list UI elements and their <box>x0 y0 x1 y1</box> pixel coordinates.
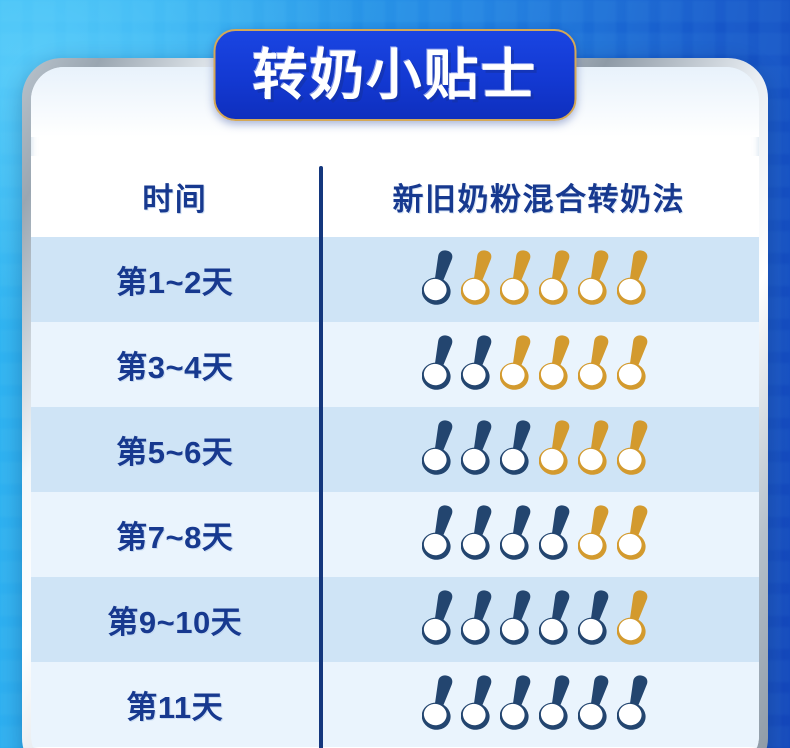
row-cell-time: 第5~6天 <box>31 427 319 472</box>
old-formula-scoop-icon <box>539 417 577 479</box>
new-formula-scoop-icon <box>422 502 460 564</box>
row-label-day-range: 第1~2天 <box>116 257 233 302</box>
table-row: 第1~2天 <box>31 237 759 322</box>
row-cell-time: 第1~2天 <box>31 257 319 302</box>
old-formula-scoop-icon <box>617 587 655 649</box>
new-formula-scoop-icon <box>539 502 577 564</box>
table-header-row: 时间 新旧奶粉混合转奶法 <box>31 156 759 237</box>
new-formula-scoop-icon <box>578 672 616 734</box>
new-formula-scoop-icon <box>500 672 538 734</box>
row-label-day-range: 第5~6天 <box>116 427 233 472</box>
new-formula-scoop-icon <box>422 332 460 394</box>
old-formula-scoop-icon <box>578 247 616 309</box>
poster-root: 时间 新旧奶粉混合转奶法 第1~2天第3~4天第5~6天第7~8天第9~10天第… <box>0 0 790 748</box>
scoop-strip <box>422 587 655 653</box>
old-formula-scoop-icon <box>617 502 655 564</box>
new-formula-scoop-icon <box>578 587 616 649</box>
header-label-time: 时间 <box>142 174 207 219</box>
transition-table: 时间 新旧奶粉混合转奶法 第1~2天第3~4天第5~6天第7~8天第9~10天第… <box>31 156 759 748</box>
header-cell-time: 时间 <box>31 174 319 219</box>
old-formula-scoop-icon <box>578 332 616 394</box>
new-formula-scoop-icon <box>461 587 499 649</box>
new-formula-scoop-icon <box>461 332 499 394</box>
table-body: 第1~2天第3~4天第5~6天第7~8天第9~10天第11天 <box>31 237 759 747</box>
old-formula-scoop-icon <box>500 247 538 309</box>
page-title: 转奶小贴士 <box>252 48 537 103</box>
scoop-strip <box>422 332 655 398</box>
header-cell-method: 新旧奶粉混合转奶法 <box>319 174 759 219</box>
new-formula-scoop-icon <box>617 672 655 734</box>
title-banner: 转奶小贴士 <box>214 29 577 121</box>
scoop-strip <box>422 502 655 568</box>
row-cell-time: 第9~10天 <box>31 597 319 642</box>
row-cell-time: 第11天 <box>31 682 319 727</box>
row-label-day-range: 第3~4天 <box>116 342 233 387</box>
row-label-day-range: 第9~10天 <box>107 597 242 642</box>
row-cell-method <box>319 332 759 398</box>
scoop-strip <box>422 417 655 483</box>
row-label-day-range: 第7~8天 <box>116 512 233 557</box>
content-card: 时间 新旧奶粉混合转奶法 第1~2天第3~4天第5~6天第7~8天第9~10天第… <box>31 67 759 748</box>
old-formula-scoop-icon <box>617 417 655 479</box>
old-formula-scoop-icon <box>617 332 655 394</box>
old-formula-scoop-icon <box>578 417 616 479</box>
row-cell-method <box>319 417 759 483</box>
chrome-frame: 时间 新旧奶粉混合转奶法 第1~2天第3~4天第5~6天第7~8天第9~10天第… <box>22 58 768 748</box>
new-formula-scoop-icon <box>500 417 538 479</box>
old-formula-scoop-icon <box>500 332 538 394</box>
new-formula-scoop-icon <box>461 672 499 734</box>
new-formula-scoop-icon <box>461 502 499 564</box>
row-cell-method <box>319 587 759 653</box>
table-row: 第7~8天 <box>31 492 759 577</box>
old-formula-scoop-icon <box>461 247 499 309</box>
new-formula-scoop-icon <box>461 417 499 479</box>
row-cell-method <box>319 247 759 313</box>
scoop-strip <box>422 672 655 738</box>
new-formula-scoop-icon <box>500 587 538 649</box>
new-formula-scoop-icon <box>422 417 460 479</box>
new-formula-scoop-icon <box>422 247 460 309</box>
new-formula-scoop-icon <box>500 502 538 564</box>
column-divider <box>319 166 323 748</box>
table-row: 第11天 <box>31 662 759 747</box>
row-cell-method <box>319 672 759 738</box>
table-row: 第3~4天 <box>31 322 759 407</box>
old-formula-scoop-icon <box>539 332 577 394</box>
new-formula-scoop-icon <box>539 587 577 649</box>
old-formula-scoop-icon <box>617 247 655 309</box>
scoop-strip <box>422 247 655 313</box>
new-formula-scoop-icon <box>539 672 577 734</box>
row-label-day-range: 第11天 <box>126 682 223 727</box>
header-label-method: 新旧奶粉混合转奶法 <box>393 174 686 219</box>
row-cell-method <box>319 502 759 568</box>
old-formula-scoop-icon <box>578 502 616 564</box>
row-cell-time: 第7~8天 <box>31 512 319 557</box>
old-formula-scoop-icon <box>539 247 577 309</box>
table-row: 第5~6天 <box>31 407 759 492</box>
new-formula-scoop-icon <box>422 672 460 734</box>
new-formula-scoop-icon <box>422 587 460 649</box>
table-row: 第9~10天 <box>31 577 759 662</box>
row-cell-time: 第3~4天 <box>31 342 319 387</box>
